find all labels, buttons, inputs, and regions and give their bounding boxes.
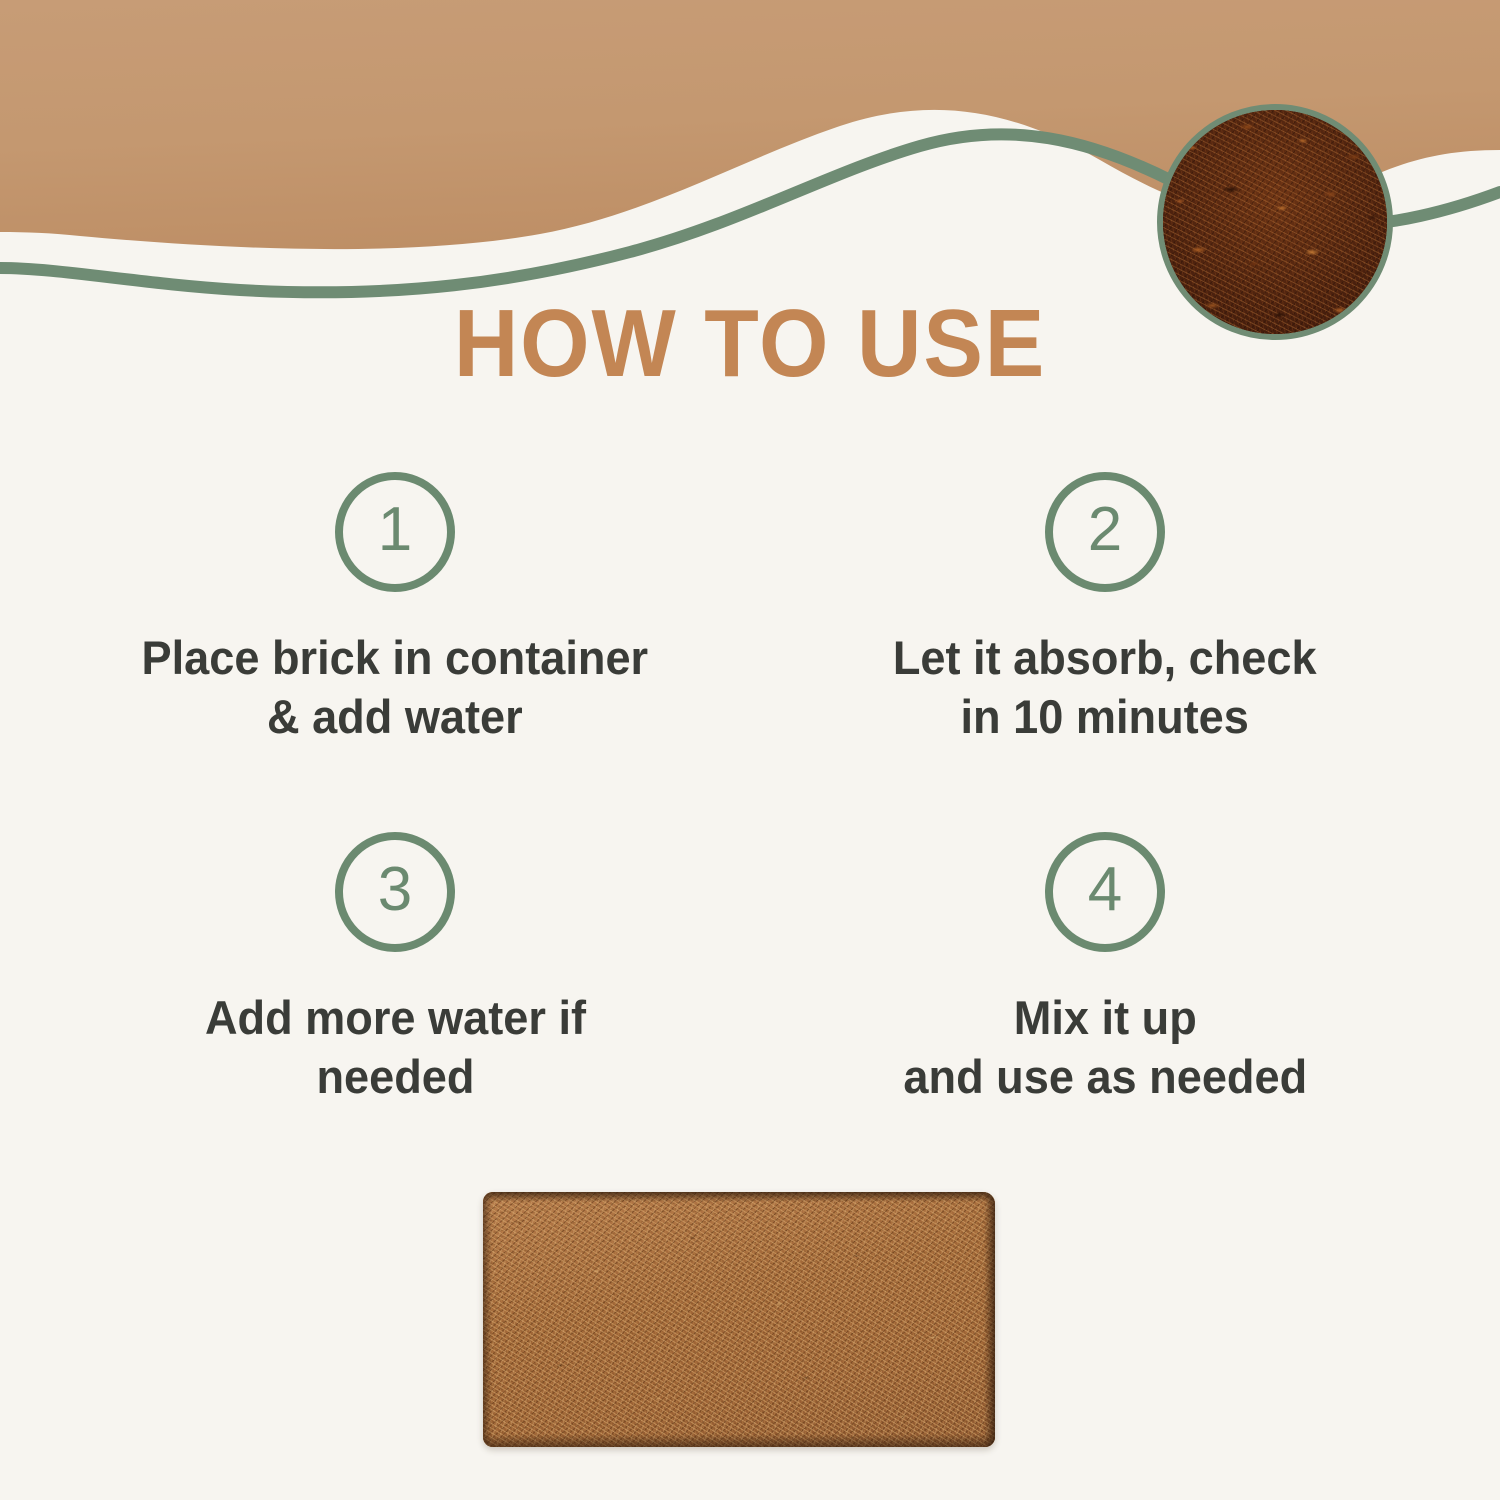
step-number-badge-2: 2 — [1043, 470, 1167, 594]
step-number-3: 3 — [333, 830, 457, 954]
steps-grid: 1 Place brick in container & add water 2… — [40, 470, 1460, 1190]
step-number-badge-3: 3 — [333, 830, 457, 954]
coir-brick-image — [483, 1192, 995, 1447]
step-label-3: Add more water if needed — [204, 988, 585, 1106]
brick-edge-bottom — [483, 1434, 995, 1447]
step-label-2: Let it absorb, check in 10 minutes — [893, 628, 1317, 746]
step-number-2: 2 — [1043, 470, 1167, 594]
step-number-badge-4: 4 — [1043, 830, 1167, 954]
step-number-1: 1 — [333, 470, 457, 594]
step-number-badge-1: 1 — [333, 470, 457, 594]
step-3: 3 Add more water if needed — [40, 830, 750, 1190]
brick-edge-top — [483, 1192, 995, 1202]
step-2: 2 Let it absorb, check in 10 minutes — [750, 470, 1460, 830]
brick-edge-right — [984, 1192, 995, 1447]
step-label-1: Place brick in container & add water — [142, 628, 649, 746]
step-1: 1 Place brick in container & add water — [40, 470, 750, 830]
page-title: HOW TO USE — [53, 296, 1448, 392]
step-number-4: 4 — [1043, 830, 1167, 954]
step-label-4: Mix it up and use as needed — [903, 988, 1307, 1106]
infographic-canvas: HOW TO USE 1 Place brick in container & … — [0, 0, 1500, 1500]
brick-edge-left — [483, 1192, 492, 1447]
coir-brick-texture — [483, 1192, 995, 1447]
step-4: 4 Mix it up and use as needed — [750, 830, 1460, 1190]
